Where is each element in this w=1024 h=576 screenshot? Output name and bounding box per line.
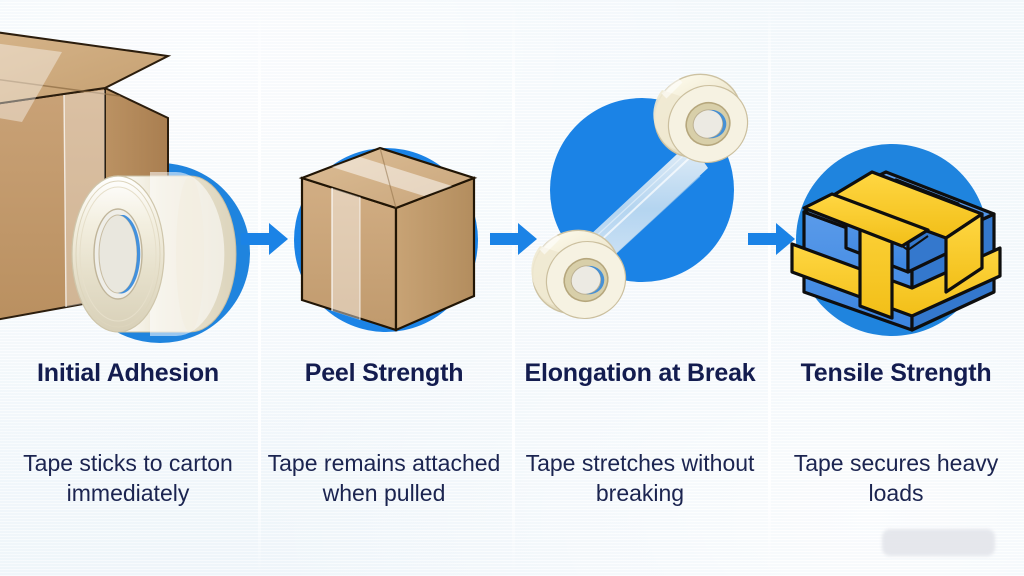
image-artifact-smudge (882, 529, 995, 556)
panel-initial-adhesion: Initial Adhesion Tape sticks to carton i… (0, 0, 256, 576)
illustration-sealed-carton-cube (256, 0, 512, 350)
panel-description: Tape stretches without breaking (520, 448, 760, 508)
panel-tensile-strength: Tensile Strength Tape secures heavy load… (768, 0, 1024, 576)
illustration-strapped-blue-boxes (768, 0, 1024, 350)
panel-peel-strength: Peel Strength Tape remains attached when… (256, 0, 512, 576)
panel-elongation-at-break: Elongation at Break Tape stretches witho… (512, 0, 768, 576)
panel-title: Initial Adhesion (4, 358, 252, 388)
panel-title: Peel Strength (260, 358, 508, 388)
panel-description: Tape secures heavy loads (776, 448, 1016, 508)
panel-description: Tape sticks to carton immediately (8, 448, 248, 508)
panel-description: Tape remains attached when pulled (264, 448, 504, 508)
tape-roll (72, 172, 236, 336)
infographic-canvas: Initial Adhesion Tape sticks to carton i… (0, 0, 1024, 576)
kraft-cube-box (302, 148, 474, 330)
illustration-carton-with-tape-roll (0, 0, 256, 350)
panel-title: Elongation at Break (516, 358, 764, 388)
illustration-two-tape-rolls-stretched-strip (512, 0, 768, 350)
panel-title: Tensile Strength (772, 358, 1020, 388)
